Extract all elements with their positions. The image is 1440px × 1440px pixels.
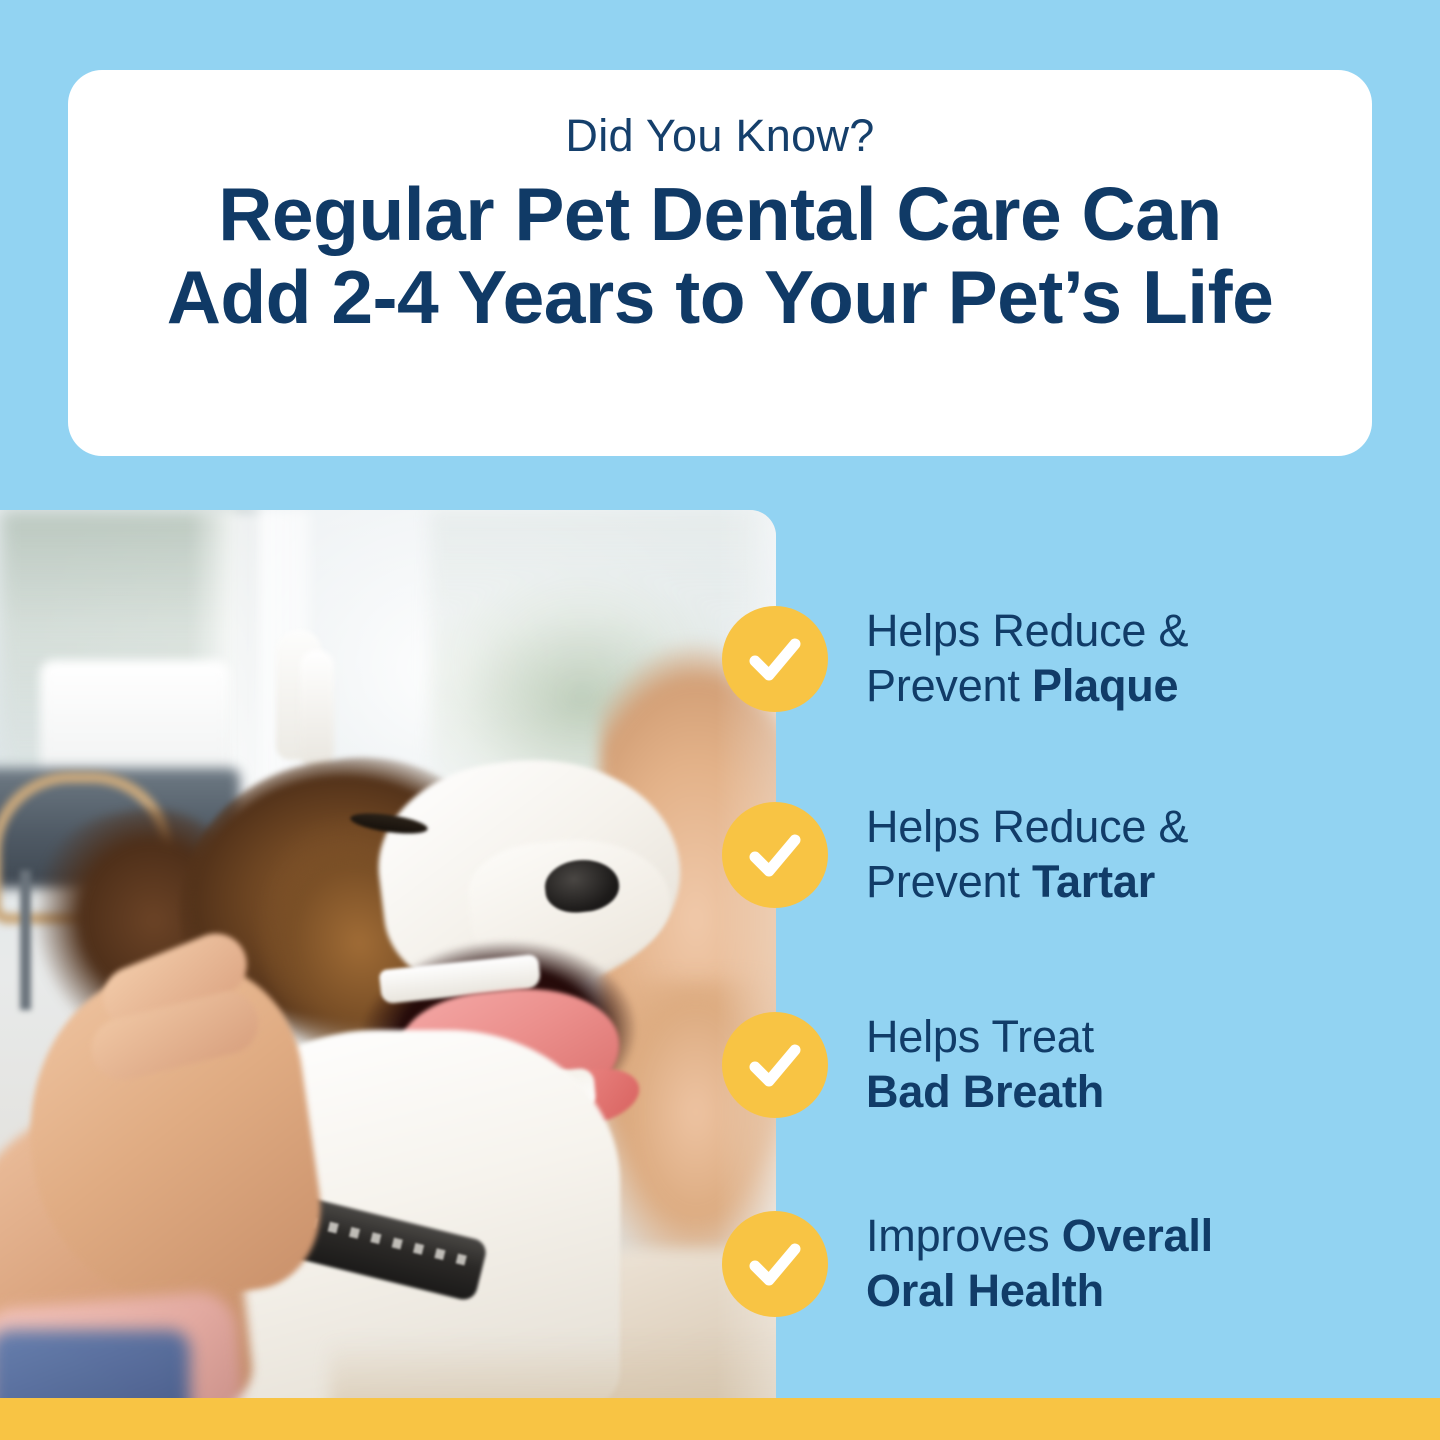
benefit-item-bad-breath: Helps Treat Bad Breath — [722, 1010, 1342, 1120]
infographic-canvas: Did You Know? Regular Pet Dental Care Ca… — [0, 0, 1440, 1440]
check-icon — [722, 802, 828, 908]
benefit-line-2-plain: Prevent — [866, 660, 1032, 711]
benefit-line-2-bold: Tartar — [1032, 856, 1155, 907]
benefit-line-1: Helps Reduce & — [866, 605, 1188, 656]
check-icon — [722, 606, 828, 712]
check-icon — [722, 1211, 828, 1317]
bottom-accent-bar — [0, 1398, 1440, 1440]
benefit-line-1: Helps Treat — [866, 1011, 1094, 1062]
benefit-line-1-bold: Overall — [1062, 1210, 1213, 1261]
benefit-item-tartar: Helps Reduce & Prevent Tartar — [722, 800, 1342, 910]
benefit-text-plaque: Helps Reduce & Prevent Plaque — [866, 604, 1188, 714]
benefit-line-2-bold: Bad Breath — [866, 1066, 1104, 1117]
benefit-text-bad-breath: Helps Treat Bad Breath — [866, 1010, 1104, 1120]
benefits-list: Helps Reduce & Prevent Plaque Helps Redu… — [0, 0, 1440, 1440]
benefit-item-oral-health: Improves Overall Oral Health — [722, 1209, 1342, 1319]
benefit-line-2-bold: Oral Health — [866, 1265, 1104, 1316]
benefit-line-2-plain: Prevent — [866, 856, 1032, 907]
benefit-line-1-plain: Improves — [866, 1210, 1062, 1261]
benefit-text-tartar: Helps Reduce & Prevent Tartar — [866, 800, 1188, 910]
benefit-item-plaque: Helps Reduce & Prevent Plaque — [722, 604, 1342, 714]
benefit-text-oral-health: Improves Overall Oral Health — [866, 1209, 1213, 1319]
benefit-line-1: Helps Reduce & — [866, 801, 1188, 852]
check-icon — [722, 1012, 828, 1118]
benefit-line-2-bold: Plaque — [1032, 660, 1178, 711]
